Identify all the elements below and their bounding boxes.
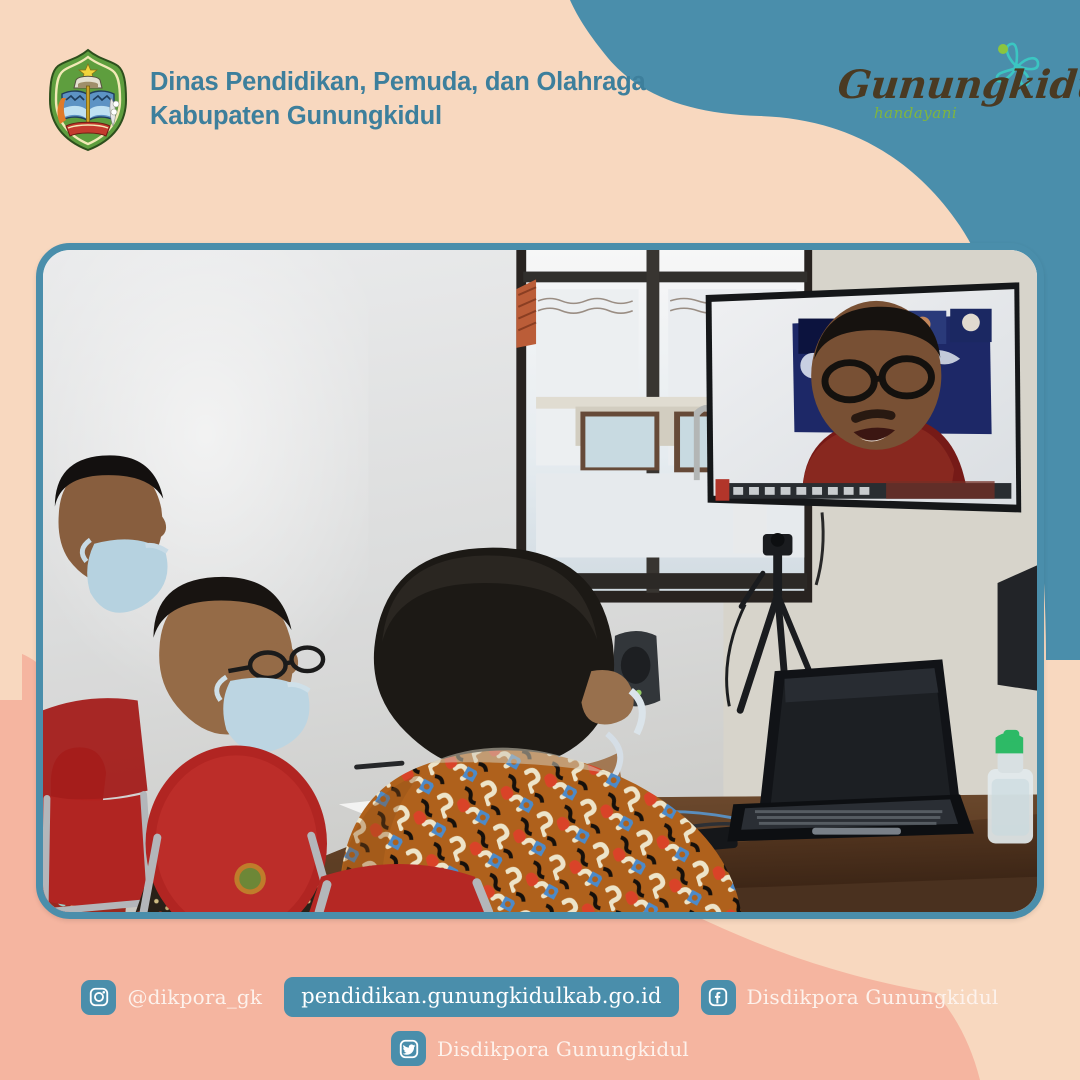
facebook-page-name: Disdikpora Gunungkidul <box>747 985 999 1009</box>
instagram-icon[interactable] <box>81 980 116 1015</box>
brand-tagline: handayani <box>874 104 957 122</box>
social-facebook[interactable]: Disdikpora Gunungkidul <box>701 980 999 1015</box>
brand-name: Gunungkidul <box>836 62 1080 108</box>
instagram-handle: @dikpora_gk <box>127 985 262 1009</box>
gunungkidul-brand-logo: Gunungkidul handayani <box>838 42 1044 134</box>
photo-frame: WEBINAR <box>36 243 1044 919</box>
facebook-icon[interactable] <box>701 980 736 1015</box>
title-line-1: Dinas Pendidikan, Pemuda, dan Olahraga <box>150 66 645 100</box>
social-instagram[interactable]: @dikpora_gk <box>81 980 262 1015</box>
meeting-photo: WEBINAR <box>43 250 1037 912</box>
header: Dinas Pendidikan, Pemuda, dan Olahraga K… <box>48 48 645 152</box>
twitter-handle: Disdikpora Gunungkidul <box>437 1037 689 1061</box>
social-twitter[interactable]: Disdikpora Gunungkidul <box>391 1031 689 1066</box>
title-line-2: Kabupaten Gunungkidul <box>150 100 645 134</box>
page-title: Dinas Pendidikan, Pemuda, dan Olahraga K… <box>150 66 645 134</box>
gunungkidul-coat-of-arms-icon <box>48 48 128 152</box>
website-badge[interactable]: pendidikan.gunungkidulkab.go.id <box>284 977 678 1017</box>
footer-social-bar: @dikpora_gk pendidikan.gunungkidulkab.go… <box>0 977 1080 1066</box>
twitter-icon[interactable] <box>391 1031 426 1066</box>
bg-peach-sliver <box>0 630 22 700</box>
